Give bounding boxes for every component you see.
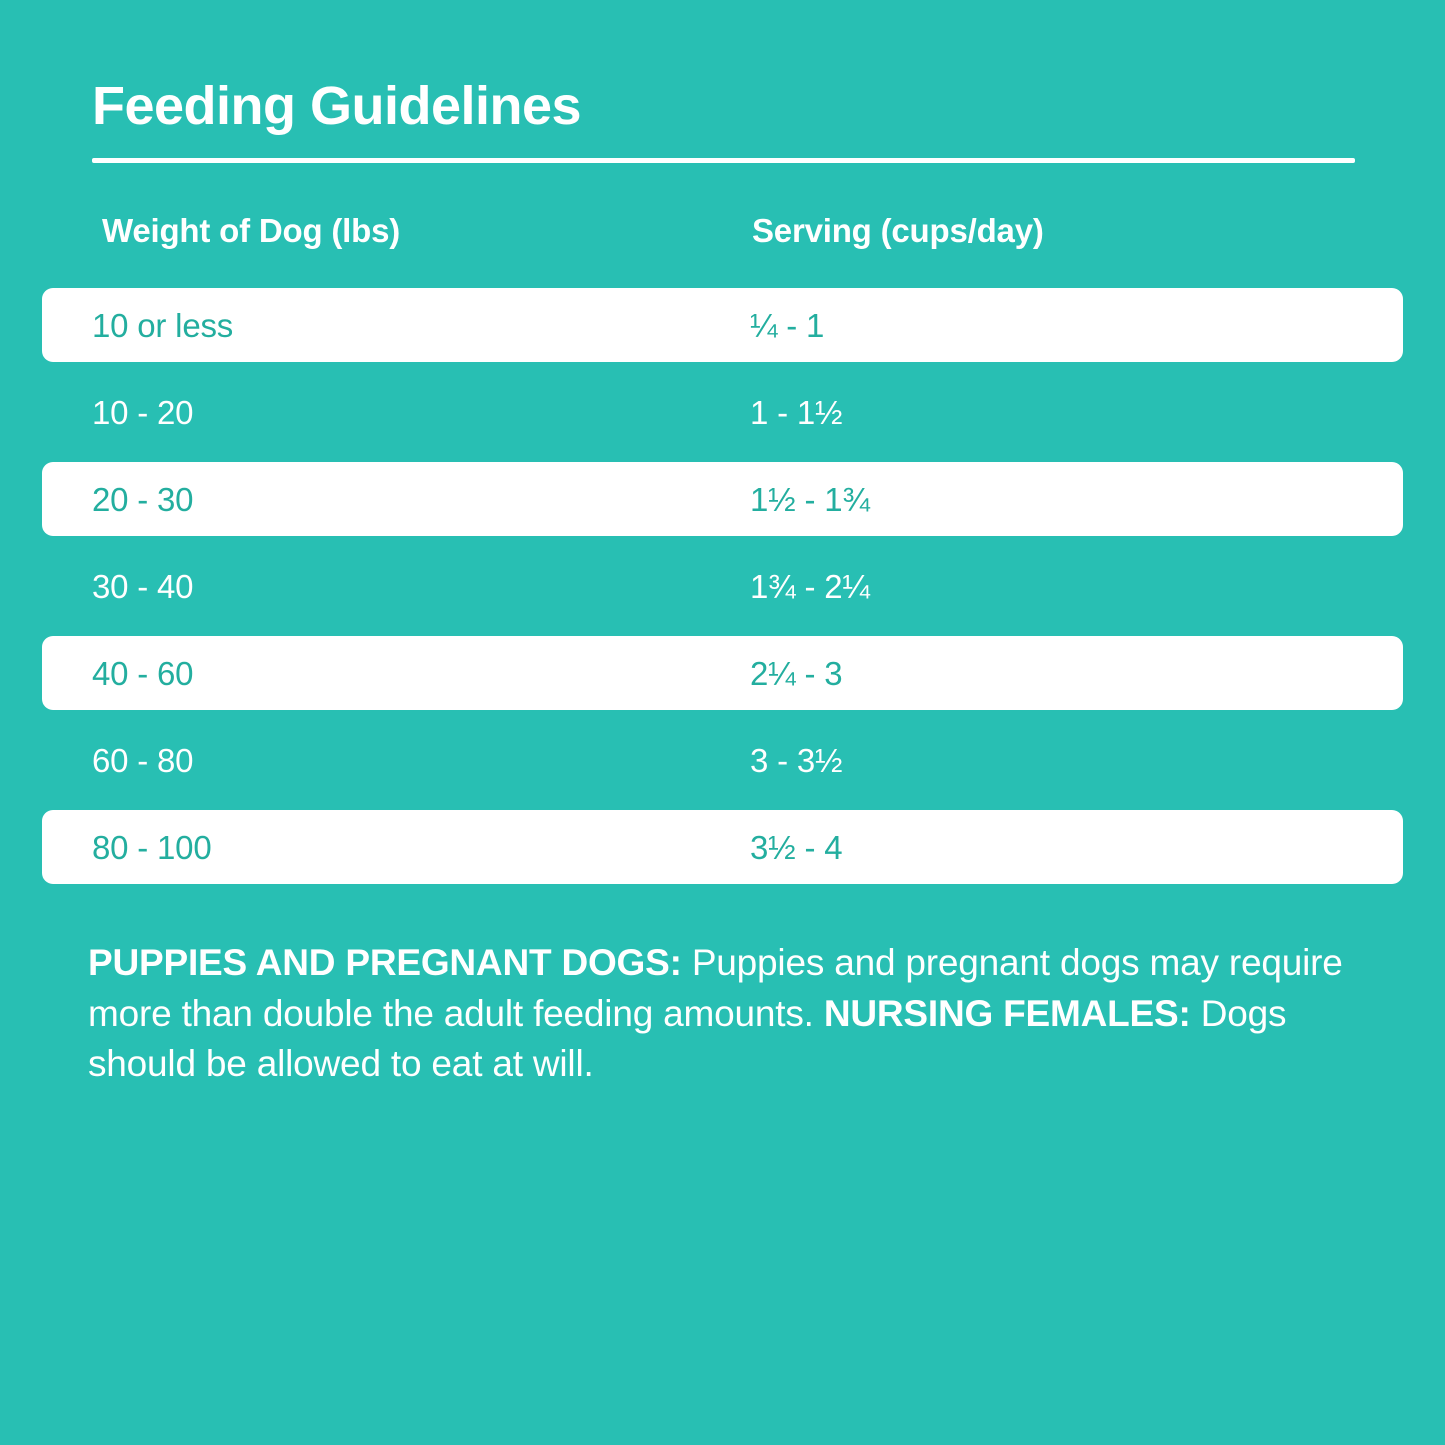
table-row: 80 - 100 3½ - 4 xyxy=(0,810,1445,897)
row-background xyxy=(42,723,1403,797)
cell-weight: 10 - 20 xyxy=(92,396,193,429)
feeding-table: 10 or less ¼ - 1 10 - 20 1 - 1½ 20 - 30 … xyxy=(0,288,1445,897)
cell-weight: 40 - 60 xyxy=(92,657,193,690)
row-background xyxy=(42,636,1403,710)
cell-weight: 10 or less xyxy=(92,309,233,342)
cell-weight: 60 - 80 xyxy=(92,744,193,777)
row-background xyxy=(42,462,1403,536)
title-block: Feeding Guidelines xyxy=(92,78,1356,163)
column-header-weight: Weight of Dog (lbs) xyxy=(102,212,400,250)
title-divider xyxy=(92,158,1355,163)
table-row: 10 - 20 1 - 1½ xyxy=(0,375,1445,462)
page-title: Feeding Guidelines xyxy=(92,78,1356,135)
cell-serving: 2¼ - 3 xyxy=(750,657,842,690)
feeding-guidelines-panel: Feeding Guidelines Weight of Dog (lbs) S… xyxy=(0,0,1445,1445)
row-background xyxy=(42,375,1403,449)
column-header-serving: Serving (cups/day) xyxy=(752,212,1044,250)
row-background xyxy=(42,810,1403,884)
table-row: 20 - 30 1½ - 1¾ xyxy=(0,462,1445,549)
cell-serving: ¼ - 1 xyxy=(750,309,824,342)
row-background xyxy=(42,288,1403,362)
cell-serving: 3 - 3½ xyxy=(750,744,842,777)
table-row: 40 - 60 2¼ - 3 xyxy=(0,636,1445,723)
table-column-headers: Weight of Dog (lbs) Serving (cups/day) xyxy=(0,212,1445,270)
table-row: 30 - 40 1¾ - 2¼ xyxy=(0,549,1445,636)
cell-serving: 1½ - 1¾ xyxy=(750,483,870,516)
cell-weight: 80 - 100 xyxy=(92,831,212,864)
cell-weight: 20 - 30 xyxy=(92,483,193,516)
cell-serving: 3½ - 4 xyxy=(750,831,842,864)
footnote-puppies-label: PUPPIES AND PREGNANT DOGS: xyxy=(88,942,682,983)
table-row: 60 - 80 3 - 3½ xyxy=(0,723,1445,810)
footnote-nursing-label: NURSING FEMALES: xyxy=(824,993,1191,1034)
cell-serving: 1¾ - 2¼ xyxy=(750,570,870,603)
cell-serving: 1 - 1½ xyxy=(750,396,842,429)
row-background xyxy=(42,549,1403,623)
cell-weight: 30 - 40 xyxy=(92,570,193,603)
footnote-text: PUPPIES AND PREGNANT DOGS: Puppies and p… xyxy=(88,938,1368,1090)
table-row: 10 or less ¼ - 1 xyxy=(0,288,1445,375)
